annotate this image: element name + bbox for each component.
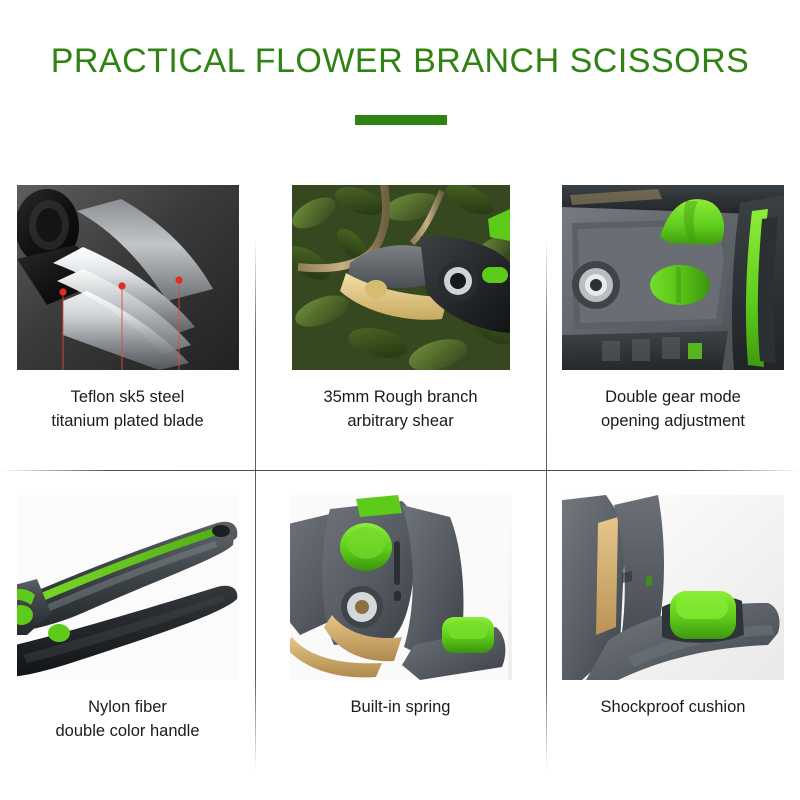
feature-caption: Built-in spring <box>351 696 451 720</box>
caption-line-1: Shockproof cushion <box>601 696 746 720</box>
branch-illustration <box>292 185 510 370</box>
caption-line-2: opening adjustment <box>601 410 745 434</box>
caption-line-1: 35mm Rough branch <box>323 386 477 410</box>
caption-line-1: Built-in spring <box>351 696 451 720</box>
feature-caption: Teflon sk5 steel titanium plated blade <box>51 386 203 434</box>
feature-cell-shockproof-cushion: Shockproof cushion <box>546 470 800 790</box>
blade-photo-art <box>17 185 239 370</box>
feature-grid: Teflon sk5 steel titanium plated blade <box>0 160 800 790</box>
cushion-illustration <box>562 495 784 680</box>
gear-photo-art <box>562 185 784 370</box>
grid-divider-vertical-right <box>546 240 547 770</box>
gear-illustration <box>562 185 784 370</box>
caption-line-2: titanium plated blade <box>51 410 203 434</box>
blade-closeup-image <box>17 185 239 370</box>
feature-caption: 35mm Rough branch arbitrary shear <box>323 386 477 434</box>
grid-divider-horizontal <box>0 470 800 471</box>
feature-cell-built-in-spring: Built-in spring <box>255 470 546 790</box>
branch-photo-art <box>292 185 510 370</box>
gear-adjustment-image <box>562 185 784 370</box>
page-title: PRACTICAL FLOWER BRANCH SCISSORS <box>0 42 800 81</box>
feature-cell-rough-branch: 35mm Rough branch arbitrary shear <box>255 160 546 470</box>
grid-divider-vertical-left <box>255 240 256 770</box>
feature-cell-double-gear: Double gear mode opening adjustment <box>546 160 800 470</box>
feature-cell-teflon-blade: Teflon sk5 steel titanium plated blade <box>0 160 255 470</box>
cushion-photo-art <box>562 495 784 680</box>
product-infographic-page: PRACTICAL FLOWER BRANCH SCISSORS <box>0 0 800 800</box>
caption-line-1: Nylon fiber <box>55 696 199 720</box>
feature-caption: Shockproof cushion <box>601 696 746 720</box>
blade-illustration <box>17 185 239 370</box>
spring-illustration <box>290 495 508 680</box>
page-header: PRACTICAL FLOWER BRANCH SCISSORS <box>0 0 800 150</box>
caption-line-1: Teflon sk5 steel <box>51 386 203 410</box>
feature-caption: Double gear mode opening adjustment <box>601 386 745 434</box>
handle-closeup-image <box>17 495 239 680</box>
handle-photo-art <box>17 495 239 680</box>
feature-caption: Nylon fiber double color handle <box>55 696 199 744</box>
handle-illustration <box>17 495 239 680</box>
spring-photo-art <box>290 495 512 680</box>
caption-line-1: Double gear mode <box>601 386 745 410</box>
spring-mechanism-image <box>290 495 512 680</box>
branch-cutting-image <box>292 185 510 370</box>
caption-line-2: arbitrary shear <box>323 410 477 434</box>
caption-line-2: double color handle <box>55 720 199 744</box>
cushion-closeup-image <box>562 495 784 680</box>
feature-cell-nylon-handle: Nylon fiber double color handle <box>0 470 255 790</box>
title-accent-bar <box>355 115 447 125</box>
